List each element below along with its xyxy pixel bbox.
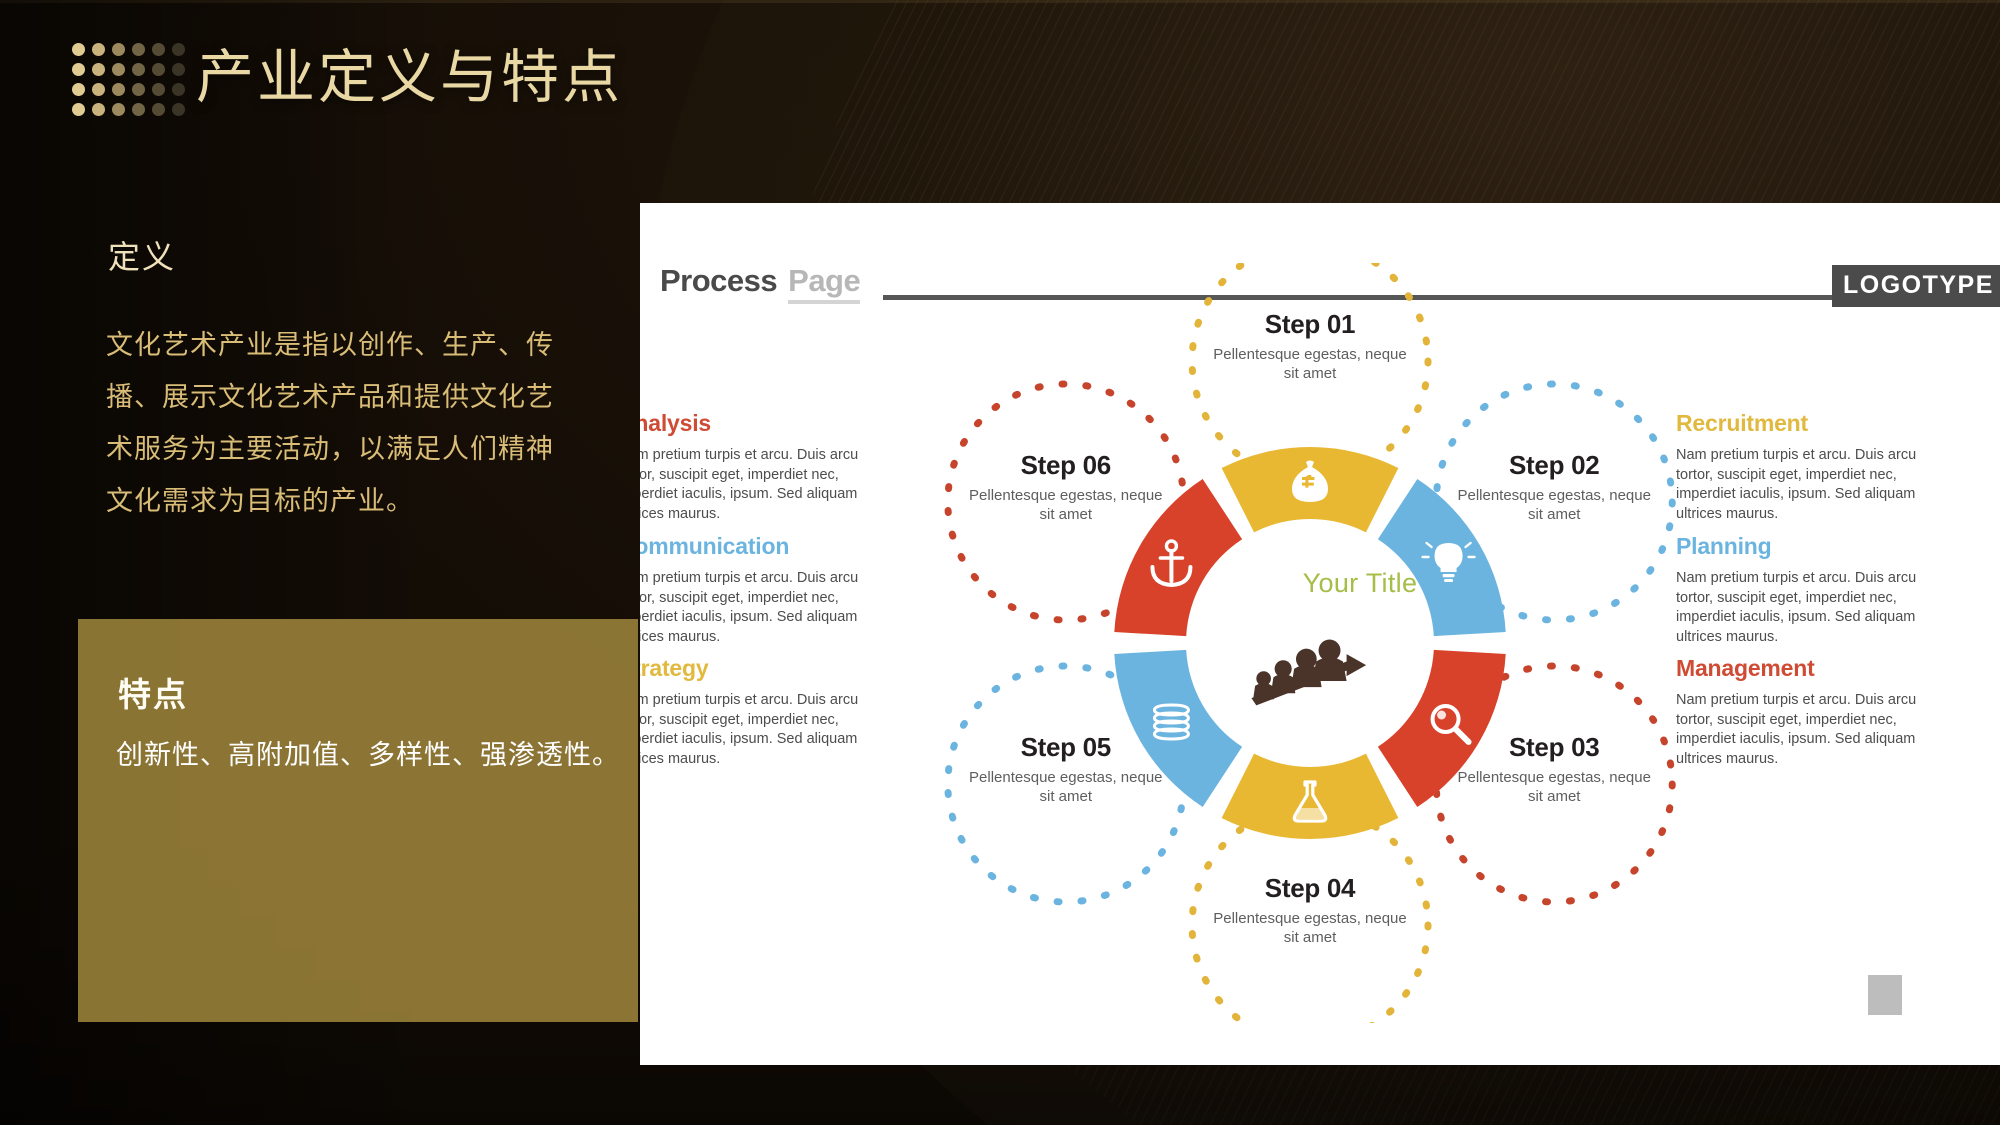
grid-dot (112, 63, 125, 76)
grid-dot (152, 43, 165, 56)
feature-heading: 特点 (118, 668, 188, 716)
info-block-communication: CommunicationNam pretium turpis et arcu.… (640, 533, 894, 647)
step-title: Step 02 (1454, 450, 1654, 481)
step-description: Pellentesque egestas, neque sit amet (1210, 345, 1410, 383)
info-block-body: Nam pretium turpis et arcu. Duis arcu to… (1676, 569, 1952, 647)
grid-dot (92, 83, 105, 96)
step-title: Step 03 (1454, 732, 1654, 763)
embedded-slide-panel: Process Page LOGOTYPE AnalysisNam pretiu… (640, 203, 2000, 1065)
info-block-title: Communication (640, 533, 894, 560)
info-block-recruitment: RecruitmentNam pretium turpis et arcu. D… (1676, 410, 1952, 524)
grid-dot (112, 43, 125, 56)
info-block-analysis: AnalysisNam pretium turpis et arcu. Duis… (640, 410, 894, 524)
wheel-center-disc (1192, 525, 1428, 761)
definition-body: 文化艺术产业是指以创作、生产、传播、展示文化艺术产品和提供文化艺术服务为主要活动… (106, 320, 576, 528)
step-description: Pellentesque egestas, neque sit amet (1454, 486, 1654, 524)
panel-corner-chip (1868, 975, 1902, 1015)
grid-dot (72, 103, 85, 116)
info-block-body: Nam pretium turpis et arcu. Duis arcu to… (640, 446, 894, 524)
grid-dot (112, 83, 125, 96)
process-wheel-diagram: Your Title Step 01Pellentesque egestas, … (930, 263, 1690, 1023)
dot-grid-icon (72, 43, 188, 119)
page-title: 产业定义与特点 (196, 48, 623, 106)
step-description: Pellentesque egestas, neque sit amet (1210, 909, 1410, 947)
info-block-title: Recruitment (1676, 410, 1952, 437)
grid-dot (92, 43, 105, 56)
step-description: Pellentesque egestas, neque sit amet (966, 768, 1166, 806)
grid-dot (172, 83, 185, 96)
grid-dot (172, 43, 185, 56)
wheel-step-label-5: Step 05Pellentesque egestas, neque sit a… (966, 732, 1166, 806)
grid-dot (152, 63, 165, 76)
info-block-body: Nam pretium turpis et arcu. Duis arcu to… (640, 569, 894, 647)
wheel-step-label-3: Step 03Pellentesque egestas, neque sit a… (1454, 732, 1654, 806)
grid-dot (112, 103, 125, 116)
info-block-body: Nam pretium turpis et arcu. Duis arcu to… (1676, 446, 1952, 524)
grid-dot (132, 43, 145, 56)
grid-dot (132, 83, 145, 96)
grid-dot (172, 103, 185, 116)
grid-dot (72, 83, 85, 96)
wheel-center-label: Your Title (1260, 568, 1460, 599)
wheel-step-label-2: Step 02Pellentesque egestas, neque sit a… (1454, 450, 1654, 524)
grid-dot (132, 103, 145, 116)
info-block-management: ManagementNam pretium turpis et arcu. Du… (1676, 655, 1952, 769)
info-block-title: Analysis (640, 410, 894, 437)
panel-header-secondary: Page (788, 263, 860, 304)
grid-dot (92, 103, 105, 116)
grid-dot (172, 63, 185, 76)
grid-dot (72, 43, 85, 56)
info-block-body: Nam pretium turpis et arcu. Duis arcu to… (640, 691, 894, 769)
info-block-title: Strategy (640, 655, 894, 682)
step-description: Pellentesque egestas, neque sit amet (1454, 768, 1654, 806)
step-title: Step 01 (1210, 309, 1410, 340)
wheel-step-label-4: Step 04Pellentesque egestas, neque sit a… (1210, 873, 1410, 947)
grid-dot (92, 63, 105, 76)
grid-dot (132, 63, 145, 76)
step-title: Step 05 (966, 732, 1166, 763)
feature-body: 创新性、高附加值、多样性、强渗透性。 (116, 735, 646, 777)
step-title: Step 04 (1210, 873, 1410, 904)
grid-dot (72, 63, 85, 76)
panel-header-primary: Process (660, 263, 777, 299)
info-block-body: Nam pretium turpis et arcu. Duis arcu to… (1676, 691, 1952, 769)
grid-dot (152, 103, 165, 116)
wheel-segment-step-04[interactable] (1222, 754, 1399, 839)
info-block-planning: PlanningNam pretium turpis et arcu. Duis… (1676, 533, 1952, 647)
step-description: Pellentesque egestas, neque sit amet (966, 486, 1166, 524)
panel-header: Process Page (660, 263, 860, 304)
info-block-title: Management (1676, 655, 1952, 682)
wheel-step-label-6: Step 06Pellentesque egestas, neque sit a… (966, 450, 1166, 524)
logotype-badge: LOGOTYPE (1832, 265, 2000, 307)
wheel-step-label-1: Step 01Pellentesque egestas, neque sit a… (1210, 309, 1410, 383)
info-block-strategy: StrategyNam pretium turpis et arcu. Duis… (640, 655, 894, 769)
grid-dot (152, 83, 165, 96)
slide-canvas: 产业定义与特点 定义 文化艺术产业是指以创作、生产、传播、展示文化艺术产品和提供… (0, 0, 2000, 1125)
info-block-title: Planning (1676, 533, 1952, 560)
definition-heading: 定义 (108, 232, 176, 278)
step-title: Step 06 (966, 450, 1166, 481)
